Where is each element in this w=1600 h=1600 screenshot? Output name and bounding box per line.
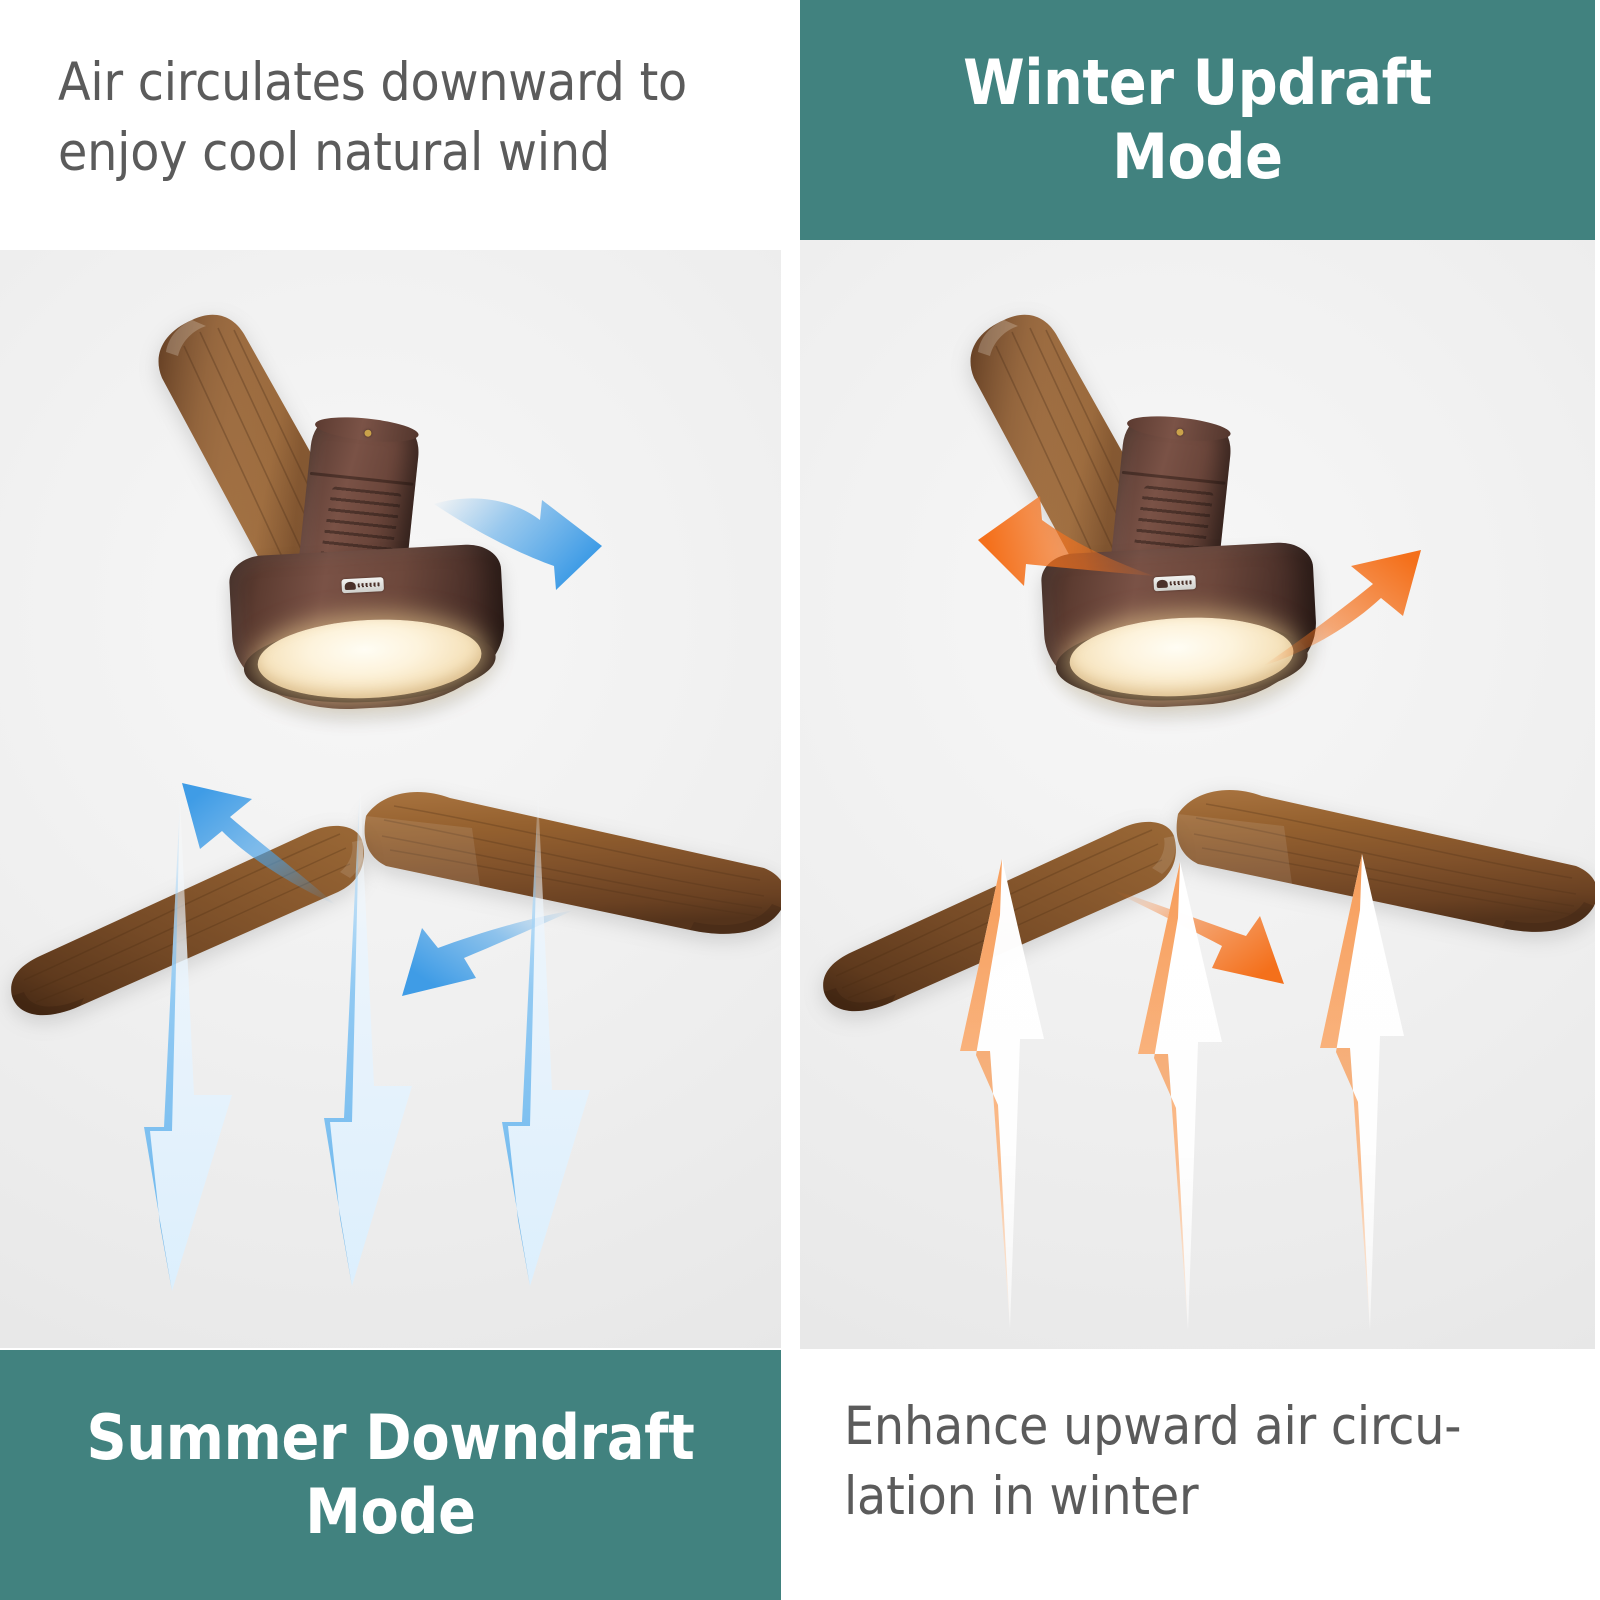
- brand-logo-icon: [341, 577, 384, 593]
- left-panel-caption: Air circulates downward to enjoy cool na…: [0, 48, 781, 188]
- airflow-arrow-right: [1255, 540, 1445, 670]
- winter-mode-band: Winter Updraft Mode: [800, 0, 1595, 240]
- led-light-lens: [256, 614, 484, 704]
- panel-summer-downdraft: Air circulates downward to enjoy cool na…: [0, 0, 781, 1600]
- updraft-streak-2: [1118, 858, 1248, 1336]
- updraft-streak-3: [1300, 850, 1430, 1336]
- downdraft-streak-2: [300, 780, 430, 1290]
- airflow-arrow-left: [968, 480, 1158, 610]
- summer-mode-title: Summer Downdraft Mode: [87, 1401, 695, 1550]
- left-product-photo: [0, 250, 781, 1348]
- winter-mode-title: Winter Updraft Mode: [963, 46, 1432, 195]
- brand-logo-icon: [1153, 575, 1196, 591]
- updraft-streak-1: [940, 855, 1070, 1335]
- right-panel-caption: Enhance upward air circu- lation in wint…: [800, 1392, 1595, 1532]
- summer-mode-band: Summer Downdraft Mode: [0, 1350, 781, 1600]
- canopy-seam: [310, 472, 414, 486]
- downdraft-streak-3: [478, 790, 608, 1290]
- downdraft-streak-1: [120, 795, 250, 1295]
- infographic-board: Air circulates downward to enjoy cool na…: [0, 0, 1600, 1600]
- right-product-photo: [800, 240, 1595, 1349]
- panel-winter-updraft: Winter Updraft Mode: [800, 0, 1595, 1600]
- airflow-arrow-right: [430, 470, 610, 600]
